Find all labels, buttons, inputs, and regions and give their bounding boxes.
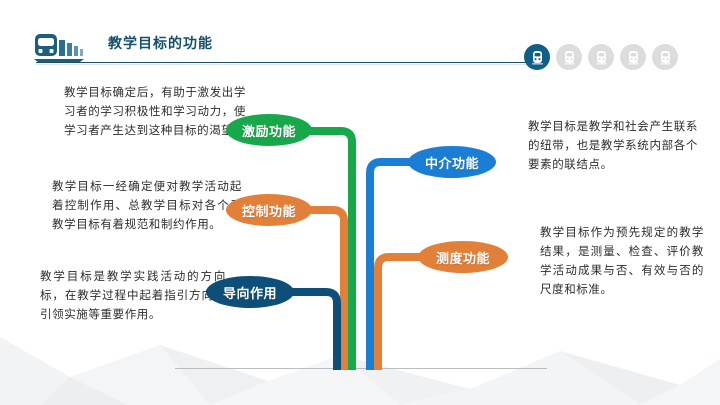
node-pill-motivation[interactable]: 激励功能 — [226, 114, 312, 146]
node-description-control: 教学目标一经确定便对教学活动起着控制作用、总教学目标对各个子教学目标有着规范和制… — [52, 178, 242, 235]
train-step-icon — [626, 50, 641, 65]
connector-measurement — [378, 257, 430, 370]
train-step-icon — [594, 50, 609, 65]
node-pill-guidance[interactable]: 导向作用 — [206, 276, 294, 308]
node-label-intermediary: 中介功能 — [425, 153, 479, 172]
step-indicator-3[interactable] — [588, 44, 614, 70]
connector-guidance — [292, 292, 337, 370]
step-indicator-5[interactable] — [652, 44, 678, 70]
train-step-icon — [658, 50, 673, 65]
node-description-guidance: 教学目标是教学实践活动的方向标，在教学过程中起着指引方向、引领实施等重要作用。 — [40, 268, 226, 325]
header-divider-shadow — [36, 64, 529, 65]
step-indicator-1[interactable] — [524, 44, 550, 70]
train-icon — [34, 30, 92, 64]
node-label-guidance: 导向作用 — [223, 283, 277, 302]
step-indicator — [524, 44, 678, 70]
step-indicator-2[interactable] — [556, 44, 582, 70]
node-description-motivation: 教学目标确定后，有助于激发出学习者的学习积极性和学习动力，使学习者产生达到这种目… — [64, 84, 246, 141]
node-label-measurement: 测度功能 — [436, 248, 490, 267]
node-pill-control[interactable]: 控制功能 — [226, 194, 312, 226]
node-description-measurement: 教学目标作为预先规定的教学结果，是测量、检查、评价教学活动成果与否、有效与否的尺… — [540, 224, 704, 300]
node-pill-measurement[interactable]: 测度功能 — [418, 241, 508, 273]
step-indicator-4[interactable] — [620, 44, 646, 70]
header-divider — [36, 62, 529, 63]
train-step-icon — [562, 50, 577, 65]
node-description-intermediary: 教学目标是教学和社会产生联系的纽带，也是教学系统内部各个要素的联结点。 — [528, 118, 698, 175]
node-pill-intermediary[interactable]: 中介功能 — [408, 146, 496, 178]
node-label-control: 控制功能 — [242, 201, 296, 220]
page-title: 教学目标的功能 — [108, 33, 213, 53]
node-label-motivation: 激励功能 — [242, 121, 296, 140]
train-step-icon — [530, 50, 545, 65]
